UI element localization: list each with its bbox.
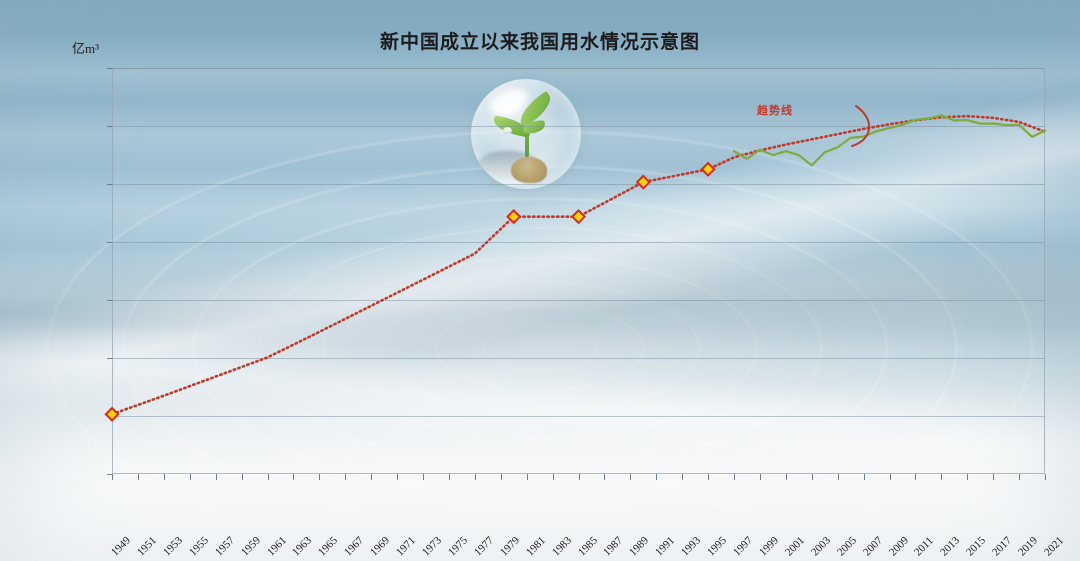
- annotation-arrow-layer: [112, 68, 1045, 474]
- x-axis-tick: [941, 474, 942, 480]
- x-axis-tick: [1019, 474, 1020, 480]
- x-axis-tick: [242, 474, 243, 480]
- x-axis-tick: [734, 474, 735, 480]
- x-axis-tick: [319, 474, 320, 480]
- annotation-arrow: [852, 106, 869, 146]
- x-axis-tick: [190, 474, 191, 480]
- y-axis-unit-label: 亿m³: [72, 38, 99, 57]
- x-axis-tick: [268, 474, 269, 480]
- x-axis-tick: [579, 474, 580, 480]
- x-axis-tick: [630, 474, 631, 480]
- x-axis-tick: [553, 474, 554, 480]
- x-axis-tick: [890, 474, 891, 480]
- x-axis-tick: [138, 474, 139, 480]
- x-axis-tick: [293, 474, 294, 480]
- x-axis-tick: [423, 474, 424, 480]
- x-axis-tick: [967, 474, 968, 480]
- x-axis-tick: [812, 474, 813, 480]
- x-axis-tick: [345, 474, 346, 480]
- x-axis-tick: [760, 474, 761, 480]
- x-axis-tick: [475, 474, 476, 480]
- x-axis-tick: [216, 474, 217, 480]
- x-axis-tick: [838, 474, 839, 480]
- x-axis-tick: [708, 474, 709, 480]
- chart-screenshot: 新中国成立以来我国用水情况示意图 亿m³ 0100020003000400050…: [0, 0, 1080, 561]
- x-axis-tick: [449, 474, 450, 480]
- x-axis-tick: [164, 474, 165, 480]
- x-axis-tick: [112, 474, 113, 480]
- x-axis-tick: [501, 474, 502, 480]
- x-axis-tick: [915, 474, 916, 480]
- x-axis-tick: [656, 474, 657, 480]
- x-axis-tick: [786, 474, 787, 480]
- x-axis-tick: [527, 474, 528, 480]
- x-axis-tick: [682, 474, 683, 480]
- x-axis-tick: [371, 474, 372, 480]
- x-axis-tick: [1045, 474, 1046, 480]
- x-axis-tick: [604, 474, 605, 480]
- x-axis-tick: [993, 474, 994, 480]
- x-axis-tick: [397, 474, 398, 480]
- plot-area: 01000200030004000500060007000 1949195119…: [112, 68, 1045, 474]
- x-axis-tick: [864, 474, 865, 480]
- page-title: 新中国成立以来我国用水情况示意图: [0, 27, 1080, 54]
